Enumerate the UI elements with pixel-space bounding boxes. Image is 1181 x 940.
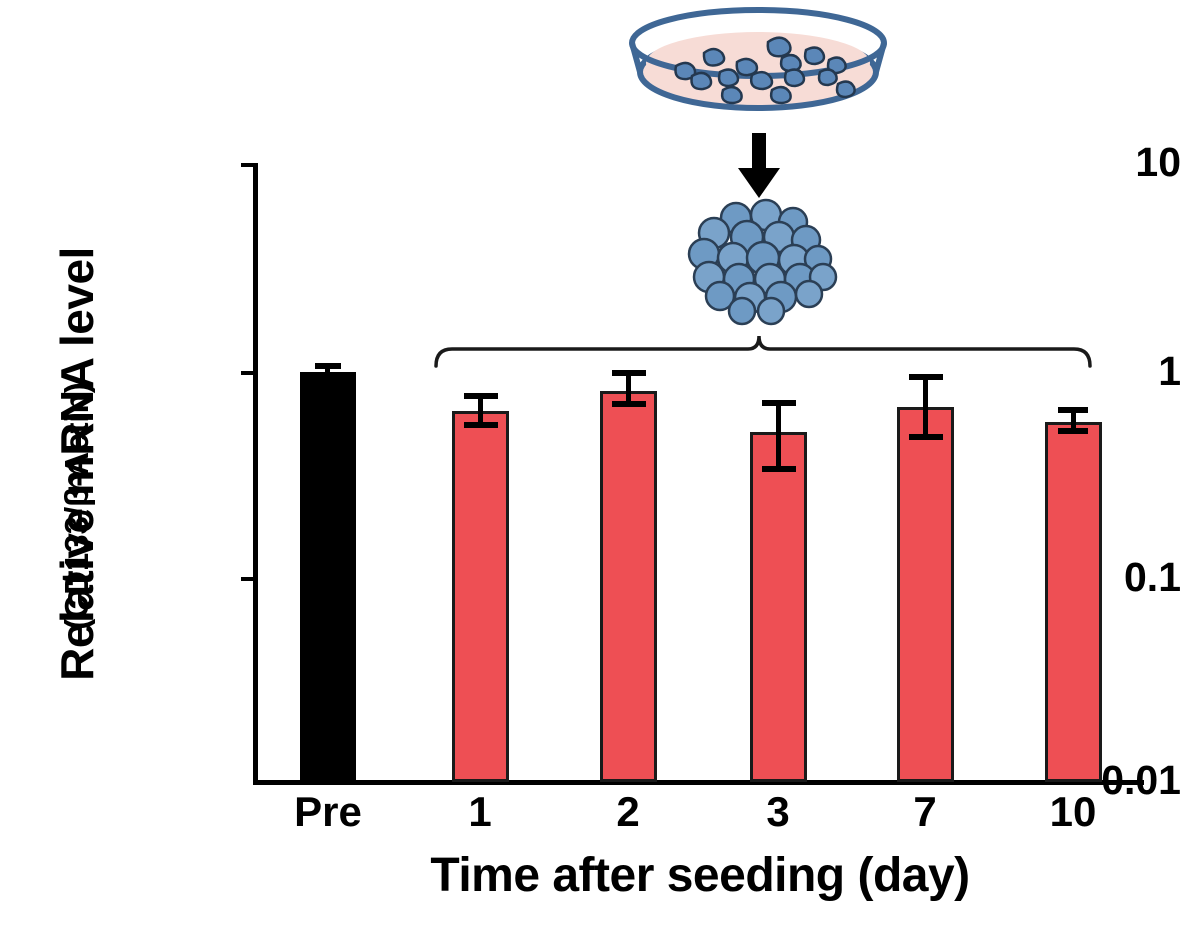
downward-arrow-icon [738, 133, 780, 198]
x-axis-line [253, 780, 1144, 785]
dish-cell [828, 58, 846, 73]
y-axis-subtitle: (CD133/β-Actin) [58, 296, 96, 716]
x-tick-label-1: 1 [420, 788, 540, 836]
x-tick-label-7: 7 [865, 788, 985, 836]
error-bar-day-7-line [923, 376, 928, 438]
bar-day-3[interactable] [750, 432, 807, 782]
y-tick-label-1: 1 [941, 351, 1181, 392]
dish-cell [691, 73, 711, 89]
error-bar-day-10-cap-top [1058, 407, 1088, 413]
error-bar-day-1-line [478, 395, 483, 425]
dish-cell [719, 70, 738, 86]
error-bar-day-2-cap-bottom [612, 401, 646, 407]
dish-cell [722, 87, 742, 103]
error-bar-day-1-cap-bottom [464, 422, 498, 428]
dish-cell [771, 87, 791, 103]
error-bar-day-3-line [776, 402, 781, 470]
error-bar-day-10-cap-bottom [1058, 428, 1088, 434]
y-tick-10 [241, 163, 254, 167]
x-tick-label-3: 3 [718, 788, 838, 836]
bar-day-7[interactable] [897, 407, 954, 782]
y-axis-line [253, 163, 258, 784]
y-tick-0.1 [241, 577, 254, 581]
x-tick-label-10: 10 [1013, 788, 1133, 836]
dish-cell [768, 38, 791, 56]
error-bar-day-3-cap-bottom [762, 466, 796, 472]
dish-cell [751, 72, 772, 89]
error-bar-day-3-cap-top [762, 400, 796, 406]
x-tick-label-2: 2 [568, 788, 688, 836]
dish-cell [737, 59, 757, 75]
petri-dish-with-cells [632, 10, 884, 108]
dish-cell [675, 63, 695, 79]
error-bar-day-2-cap-top [612, 370, 646, 376]
error-bar-pre-cap-top [315, 363, 341, 369]
dish-cell [819, 70, 837, 85]
bar-day-2[interactable] [600, 391, 657, 782]
cell-spheroid-cluster [689, 200, 836, 324]
dish-cell [785, 70, 804, 86]
error-bar-day-7-cap-bottom [909, 434, 943, 440]
bar-day-1[interactable] [452, 411, 509, 782]
error-bar-day-2-line [626, 372, 631, 404]
x-tick-label-pre: Pre [268, 788, 388, 836]
dish-cell [837, 82, 855, 97]
dish-cell [805, 48, 824, 64]
y-tick-1 [241, 371, 254, 375]
figure-canvas: Relative mRNA level (CD133/β-Actin) 10 1… [0, 0, 1181, 940]
error-bar-day-7-cap-top [909, 374, 943, 380]
bar-day-10[interactable] [1045, 422, 1102, 782]
y-tick-label-10: 10 [941, 142, 1181, 183]
error-bar-day-1-cap-top [464, 393, 498, 399]
x-axis-title: Time after seeding (day) [250, 848, 1150, 903]
dish-cell [781, 55, 801, 71]
error-bar-pre-cap-bottom [315, 378, 341, 384]
bar-pre[interactable] [300, 372, 356, 782]
dish-cell [704, 49, 724, 66]
